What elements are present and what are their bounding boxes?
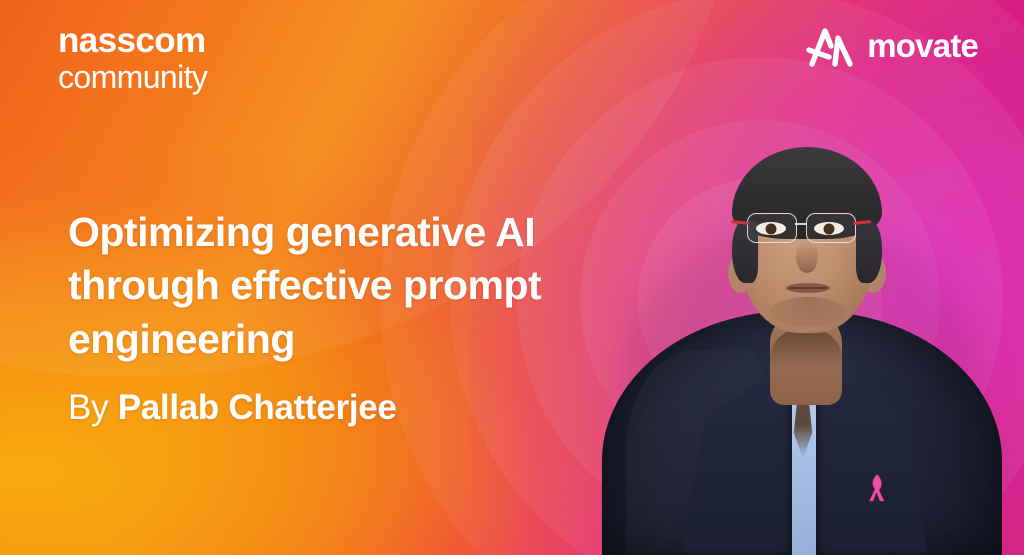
glasses-lens-right-icon [806, 213, 856, 243]
nasscom-wordmark: nasscom [58, 22, 207, 60]
portrait-neck-shadow [770, 329, 842, 369]
promo-banner: nasscom community movate Optimizing gene… [0, 0, 1024, 555]
speaker-portrait [584, 0, 1024, 555]
byline: By Pallab Chatterjee [68, 388, 397, 428]
page-title: Optimizing generative AI through effecti… [68, 206, 628, 366]
glasses-lens-left-icon [747, 213, 797, 243]
community-wordmark: community [58, 60, 207, 95]
movate-wordmark: movate [867, 27, 978, 65]
portrait-mouth [786, 283, 830, 293]
movate-m-arrow-icon [805, 24, 855, 68]
movate-logo[interactable]: movate [805, 24, 978, 68]
author-name: Pallab Chatterjee [118, 388, 397, 427]
byline-prefix: By [68, 388, 108, 427]
portrait-chin-shadow [770, 297, 846, 327]
nasscom-community-logo[interactable]: nasscom community [58, 22, 207, 94]
portrait-nose [796, 241, 818, 273]
portrait-hair-side-right [856, 221, 882, 283]
glasses-bridge-icon [795, 223, 806, 225]
pink-ribbon-pin-icon [867, 473, 887, 503]
